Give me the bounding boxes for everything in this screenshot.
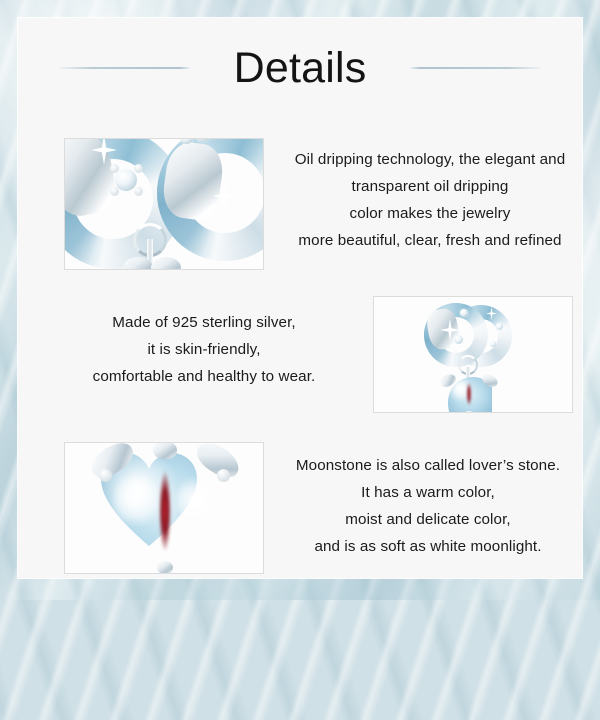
text-block-sterling-silver: Made of 925 sterling silver, it is skin-… — [54, 294, 354, 404]
text-line: it is skin-friendly, — [147, 336, 260, 363]
text-line: It has a warm color, — [361, 479, 495, 506]
text-line: color makes the jewelry — [350, 200, 511, 227]
jewelry-illustration-moonstone-heart — [65, 443, 263, 573]
text-line: Oil dripping technology, the elegant and — [295, 146, 566, 173]
section-oil-dripping: Oil dripping technology, the elegant and… — [46, 120, 582, 272]
text-line: more beautiful, clear, fresh and refined — [298, 227, 561, 254]
section-sterling-silver: Made of 925 sterling silver, it is skin-… — [46, 278, 582, 415]
text-line: moist and delicate color, — [345, 506, 510, 533]
product-photo-moonstone-heart-macro — [64, 442, 264, 574]
product-photo-earring-pair — [373, 296, 573, 413]
header-rule-right — [410, 67, 541, 69]
text-line: Moonstone is also called lover’s stone. — [296, 452, 560, 479]
text-line: and is as soft as white moonlight. — [314, 533, 541, 560]
product-photo-hoops-macro — [64, 138, 264, 270]
section-moonstone: Moonstone is also called lover’s stone. … — [46, 424, 582, 576]
text-line: comfortable and healthy to wear. — [93, 363, 316, 390]
jewelry-illustration-earring-pair — [374, 297, 572, 412]
text-block-moonstone: Moonstone is also called lover’s stone. … — [274, 436, 582, 576]
jewelry-illustration-hoops-macro — [65, 139, 263, 269]
text-line: transparent oil dripping — [352, 173, 509, 200]
details-card: Details — [18, 18, 582, 578]
page-title: Details — [234, 47, 367, 90]
text-block-oil-dripping: Oil dripping technology, the elegant and… — [278, 130, 582, 270]
text-line: Made of 925 sterling silver, — [112, 309, 295, 336]
details-header: Details — [18, 38, 582, 98]
photo-canvas — [65, 443, 263, 573]
header-rule-left — [59, 67, 190, 69]
photo-canvas — [374, 297, 572, 412]
photo-canvas — [65, 139, 263, 269]
